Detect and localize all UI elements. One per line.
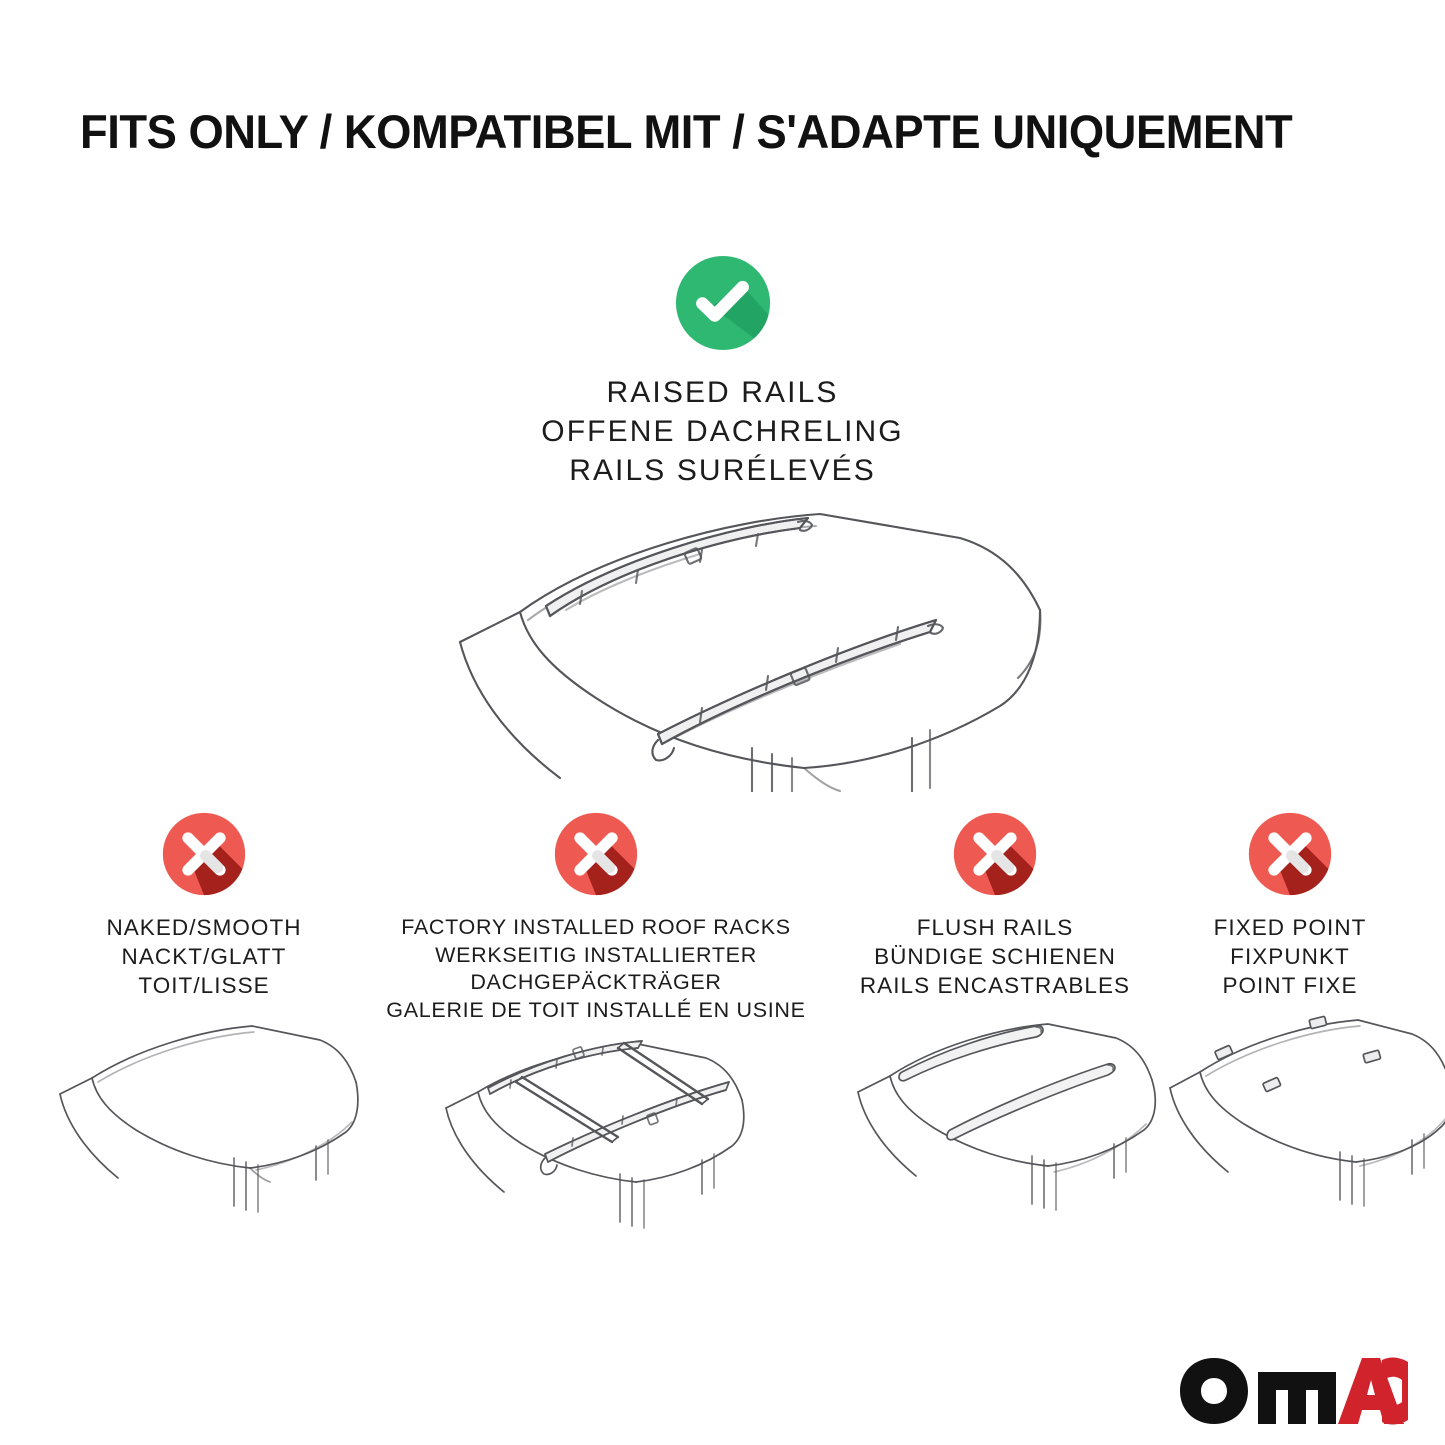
x-circle-icon [1248, 812, 1332, 896]
incompatible-label-de-2: DACHGEPÄCKTRÄGER [370, 969, 822, 997]
incompatible-labels: FACTORY INSTALLED ROOF RACKS WERKSEITIG … [370, 914, 822, 1024]
compatible-label-en: RAISED RAILS [0, 373, 1445, 412]
x-circle-icon [953, 812, 1037, 896]
incompatible-label-en: FACTORY INSTALLED ROOF RACKS [370, 914, 822, 942]
incompatible-label-en: FIXED POINT [1160, 914, 1420, 943]
incompatible-label-de: FIXPUNKT [1160, 943, 1420, 972]
x-circle-icon [554, 812, 638, 896]
check-circle-icon [675, 255, 771, 351]
incompatible-label-de: BÜNDIGE SCHIENEN [840, 943, 1150, 972]
incompatible-label-fr: GALERIE DE TOIT INSTALLÉ EN USINE [370, 997, 822, 1025]
incompatible-labels: FLUSH RAILS BÜNDIGE SCHIENEN RAILS ENCAS… [840, 914, 1150, 1000]
compatible-label-de: OFFENE DACHRELING [0, 412, 1445, 451]
car-roof-raised-rails-illustration [400, 492, 1060, 792]
incompatible-label-fr: TOIT/LISSE [44, 972, 364, 1001]
incompatible-column-fixed-point: FIXED POINT FIXPUNKT POINT FIXE [1160, 812, 1420, 1243]
car-roof-naked-smooth-illustration [44, 1010, 374, 1240]
omac-logo-mark [1176, 1352, 1408, 1430]
incompatible-label-fr: RAILS ENCASTRABLES [840, 972, 1150, 1001]
incompatible-label-de-1: WERKSEITIG INSTALLIERTER [370, 942, 822, 970]
omac-logo [1176, 1352, 1408, 1430]
incompatible-label-de: NACKT/GLATT [44, 943, 364, 972]
incompatible-sections: NAKED/SMOOTH NACKT/GLATT TOIT/LISSE [0, 812, 1445, 1332]
incompatible-label-en: FLUSH RAILS [840, 914, 1150, 943]
car-roof-fixed-point-illustration [1160, 1010, 1445, 1238]
incompatible-labels: NAKED/SMOOTH NACKT/GLATT TOIT/LISSE [44, 914, 364, 1000]
compatible-labels: RAISED RAILS OFFENE DACHRELING RAILS SUR… [0, 373, 1445, 490]
infographic-canvas: FITS ONLY / KOMPATIBEL MIT / S'ADAPTE UN… [0, 0, 1445, 1445]
incompatible-column-factory-roof-racks: FACTORY INSTALLED ROOF RACKS WERKSEITIG … [370, 812, 822, 1265]
car-roof-factory-roof-racks-illustration [426, 1034, 766, 1260]
incompatible-column-flush-rails: FLUSH RAILS BÜNDIGE SCHIENEN RAILS ENCAS… [840, 812, 1150, 1243]
incompatible-labels: FIXED POINT FIXPUNKT POINT FIXE [1160, 914, 1420, 1000]
incompatible-column-naked-smooth: NAKED/SMOOTH NACKT/GLATT TOIT/LISSE [44, 812, 364, 1245]
compatible-label-fr: RAILS SURÉLEVÉS [0, 451, 1445, 490]
page-title: FITS ONLY / KOMPATIBEL MIT / S'ADAPTE UN… [80, 104, 1335, 159]
incompatible-label-en: NAKED/SMOOTH [44, 914, 364, 943]
compatible-section: RAISED RAILS OFFENE DACHRELING RAILS SUR… [0, 255, 1445, 490]
car-roof-flush-rails-illustration [840, 1010, 1170, 1238]
x-circle-icon [162, 812, 246, 896]
logo-letter-m [1258, 1372, 1336, 1424]
logo-letter-o [1180, 1358, 1248, 1424]
incompatible-label-fr: POINT FIXE [1160, 972, 1420, 1001]
